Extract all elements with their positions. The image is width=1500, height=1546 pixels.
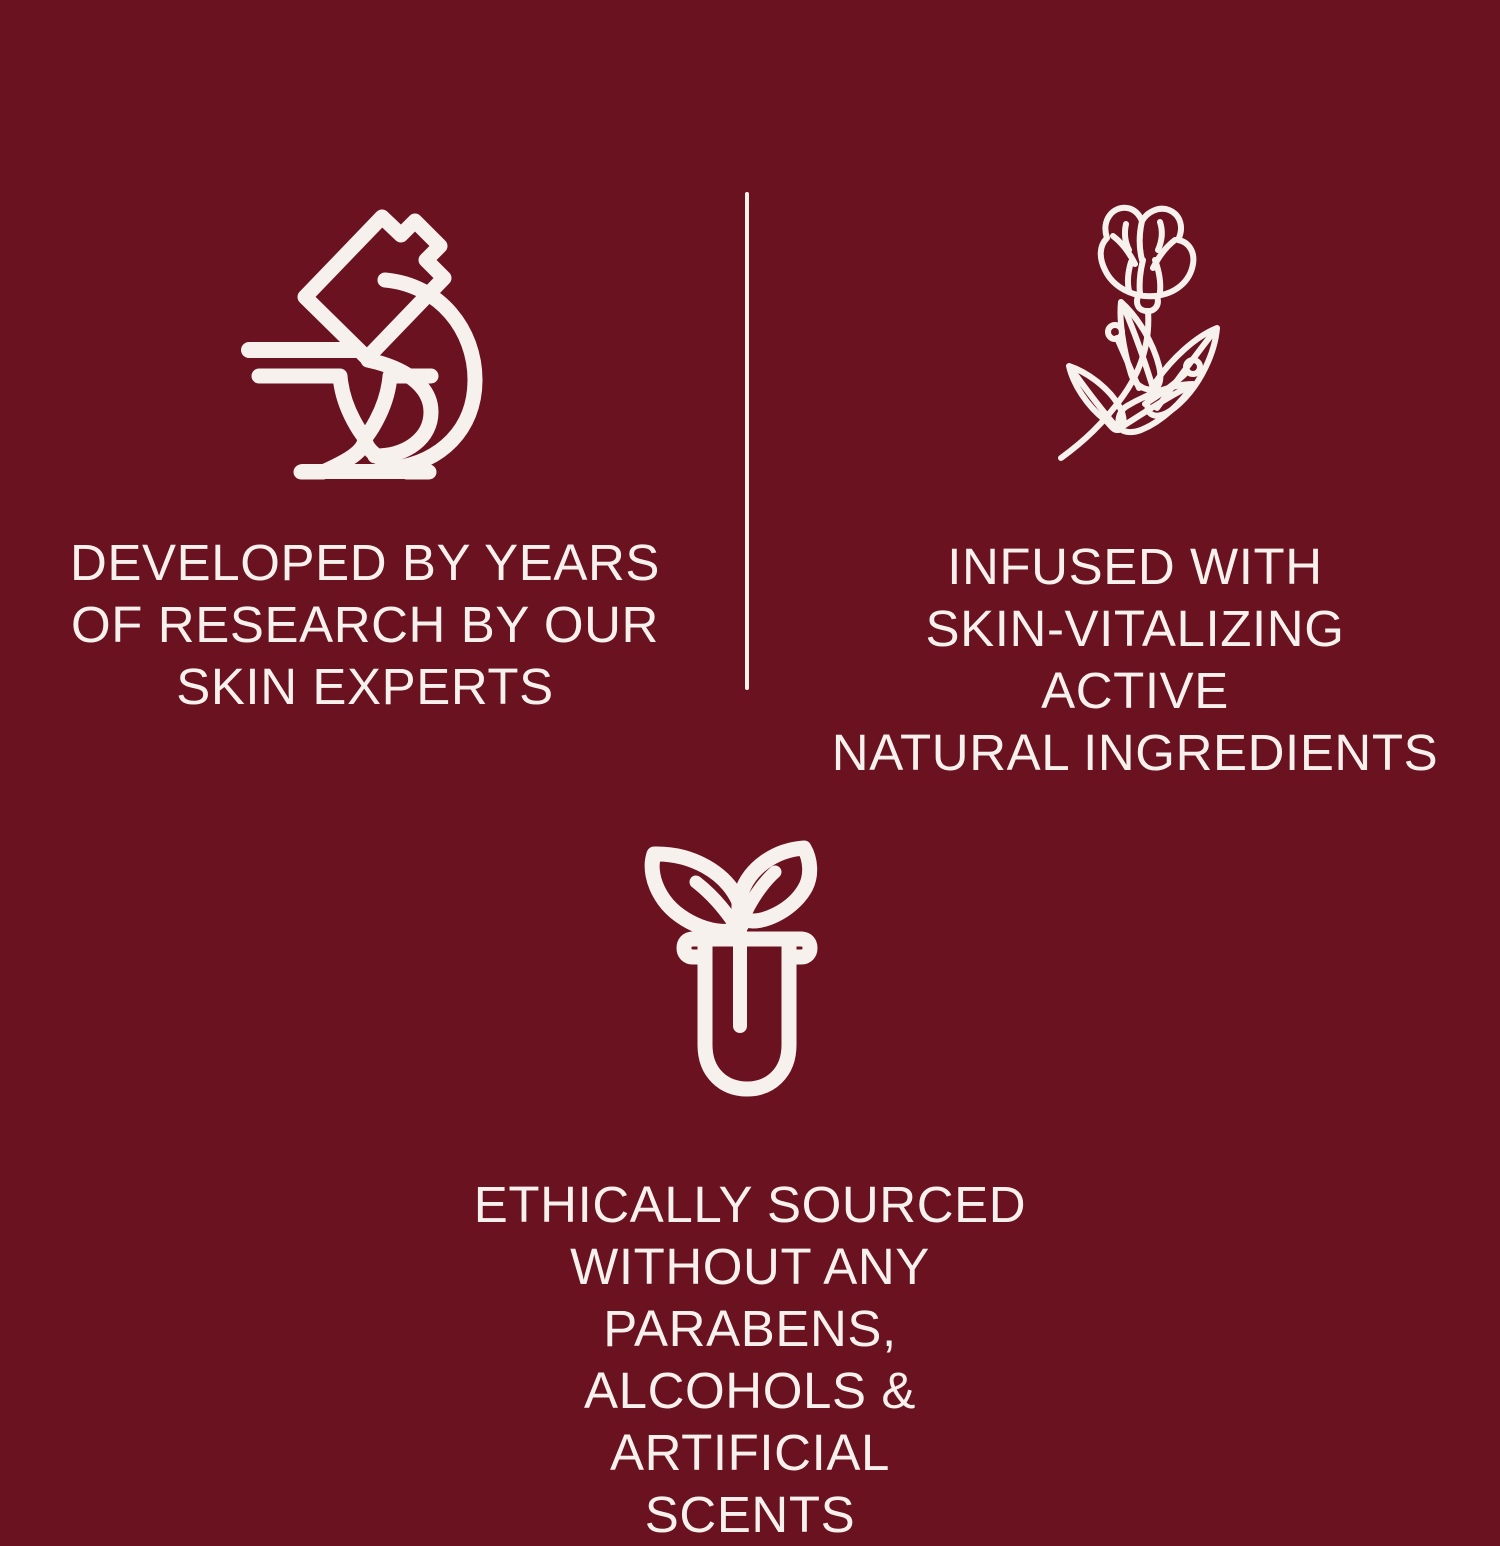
feature-ingredients: INFUSED WITH SKIN-VITALIZING ACTIVE NATU… — [830, 190, 1440, 784]
feature-ethical: ETHICALLY SOURCED WITHOUT ANY PARABENS, … — [445, 830, 1055, 1546]
feature-research: DEVELOPED BY YEARS OF RESEARCH BY OUR SK… — [60, 190, 670, 718]
microscope-icon — [235, 190, 495, 480]
column-divider — [745, 192, 749, 690]
test-tube-sprout-icon — [625, 830, 875, 1120]
benefits-panel: DEVELOPED BY YEARS OF RESEARCH BY OUR SK… — [0, 0, 1500, 1500]
flower-sprig-icon — [1035, 190, 1235, 480]
feature-ingredients-caption: INFUSED WITH SKIN-VITALIZING ACTIVE NATU… — [830, 536, 1440, 784]
feature-research-caption: DEVELOPED BY YEARS OF RESEARCH BY OUR SK… — [70, 532, 660, 718]
feature-ethical-caption: ETHICALLY SOURCED WITHOUT ANY PARABENS, … — [445, 1174, 1055, 1546]
